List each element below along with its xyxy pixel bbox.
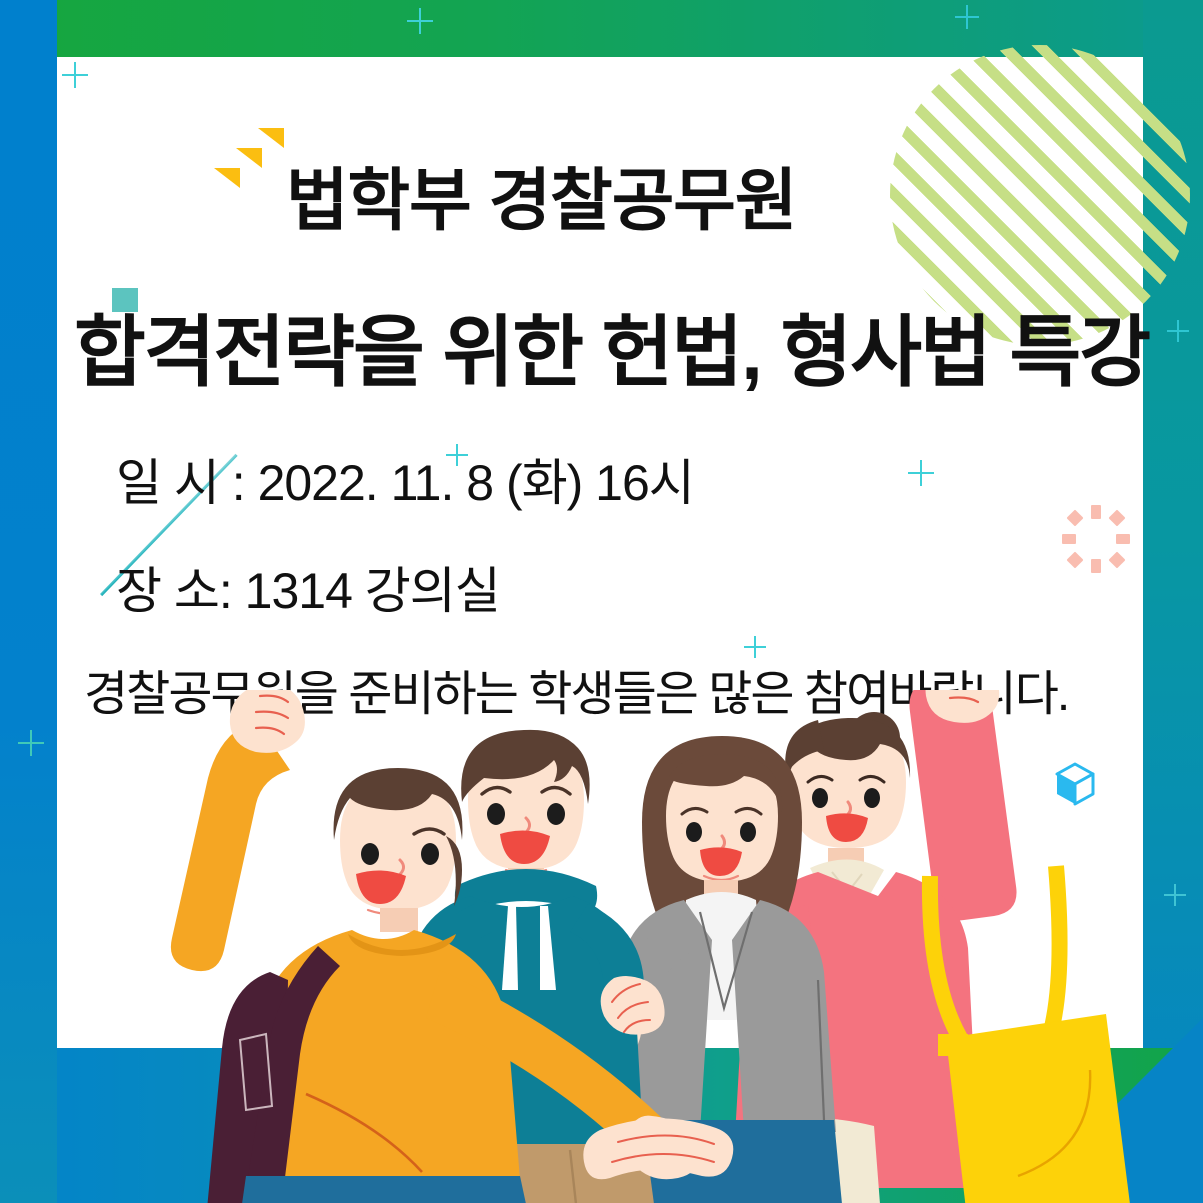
info-datetime: 일 시 : 2022. 11. 8 (화) 16시: [116, 443, 694, 515]
cube-icon: [1055, 762, 1095, 811]
page-title-line1: 법학부 경찰공무원: [286, 145, 796, 244]
sunburst-icon: [1062, 505, 1130, 573]
yellow-triangle-3: [258, 128, 284, 148]
plus-icon-top-left: [62, 62, 88, 88]
students-illustration: [0, 690, 1203, 1203]
yellow-triangle-1: [214, 168, 240, 188]
plus-icon-right-edge: [1167, 320, 1189, 342]
poster-canvas: 법학부 경찰공무원 합격전략을 위한 헌법, 형사법 특강 일 시 : 2022…: [0, 0, 1203, 1203]
plus-icon-top-right: [955, 5, 979, 29]
page-title-line2: 합격전략을 위한 헌법, 형사법 특강: [74, 290, 1149, 402]
plus-icon-mid-right: [908, 460, 934, 486]
plus-icon-top-band: [407, 8, 433, 34]
info-place: 장 소: 1314 강의실: [116, 551, 500, 623]
yellow-triangle-2: [236, 148, 262, 168]
